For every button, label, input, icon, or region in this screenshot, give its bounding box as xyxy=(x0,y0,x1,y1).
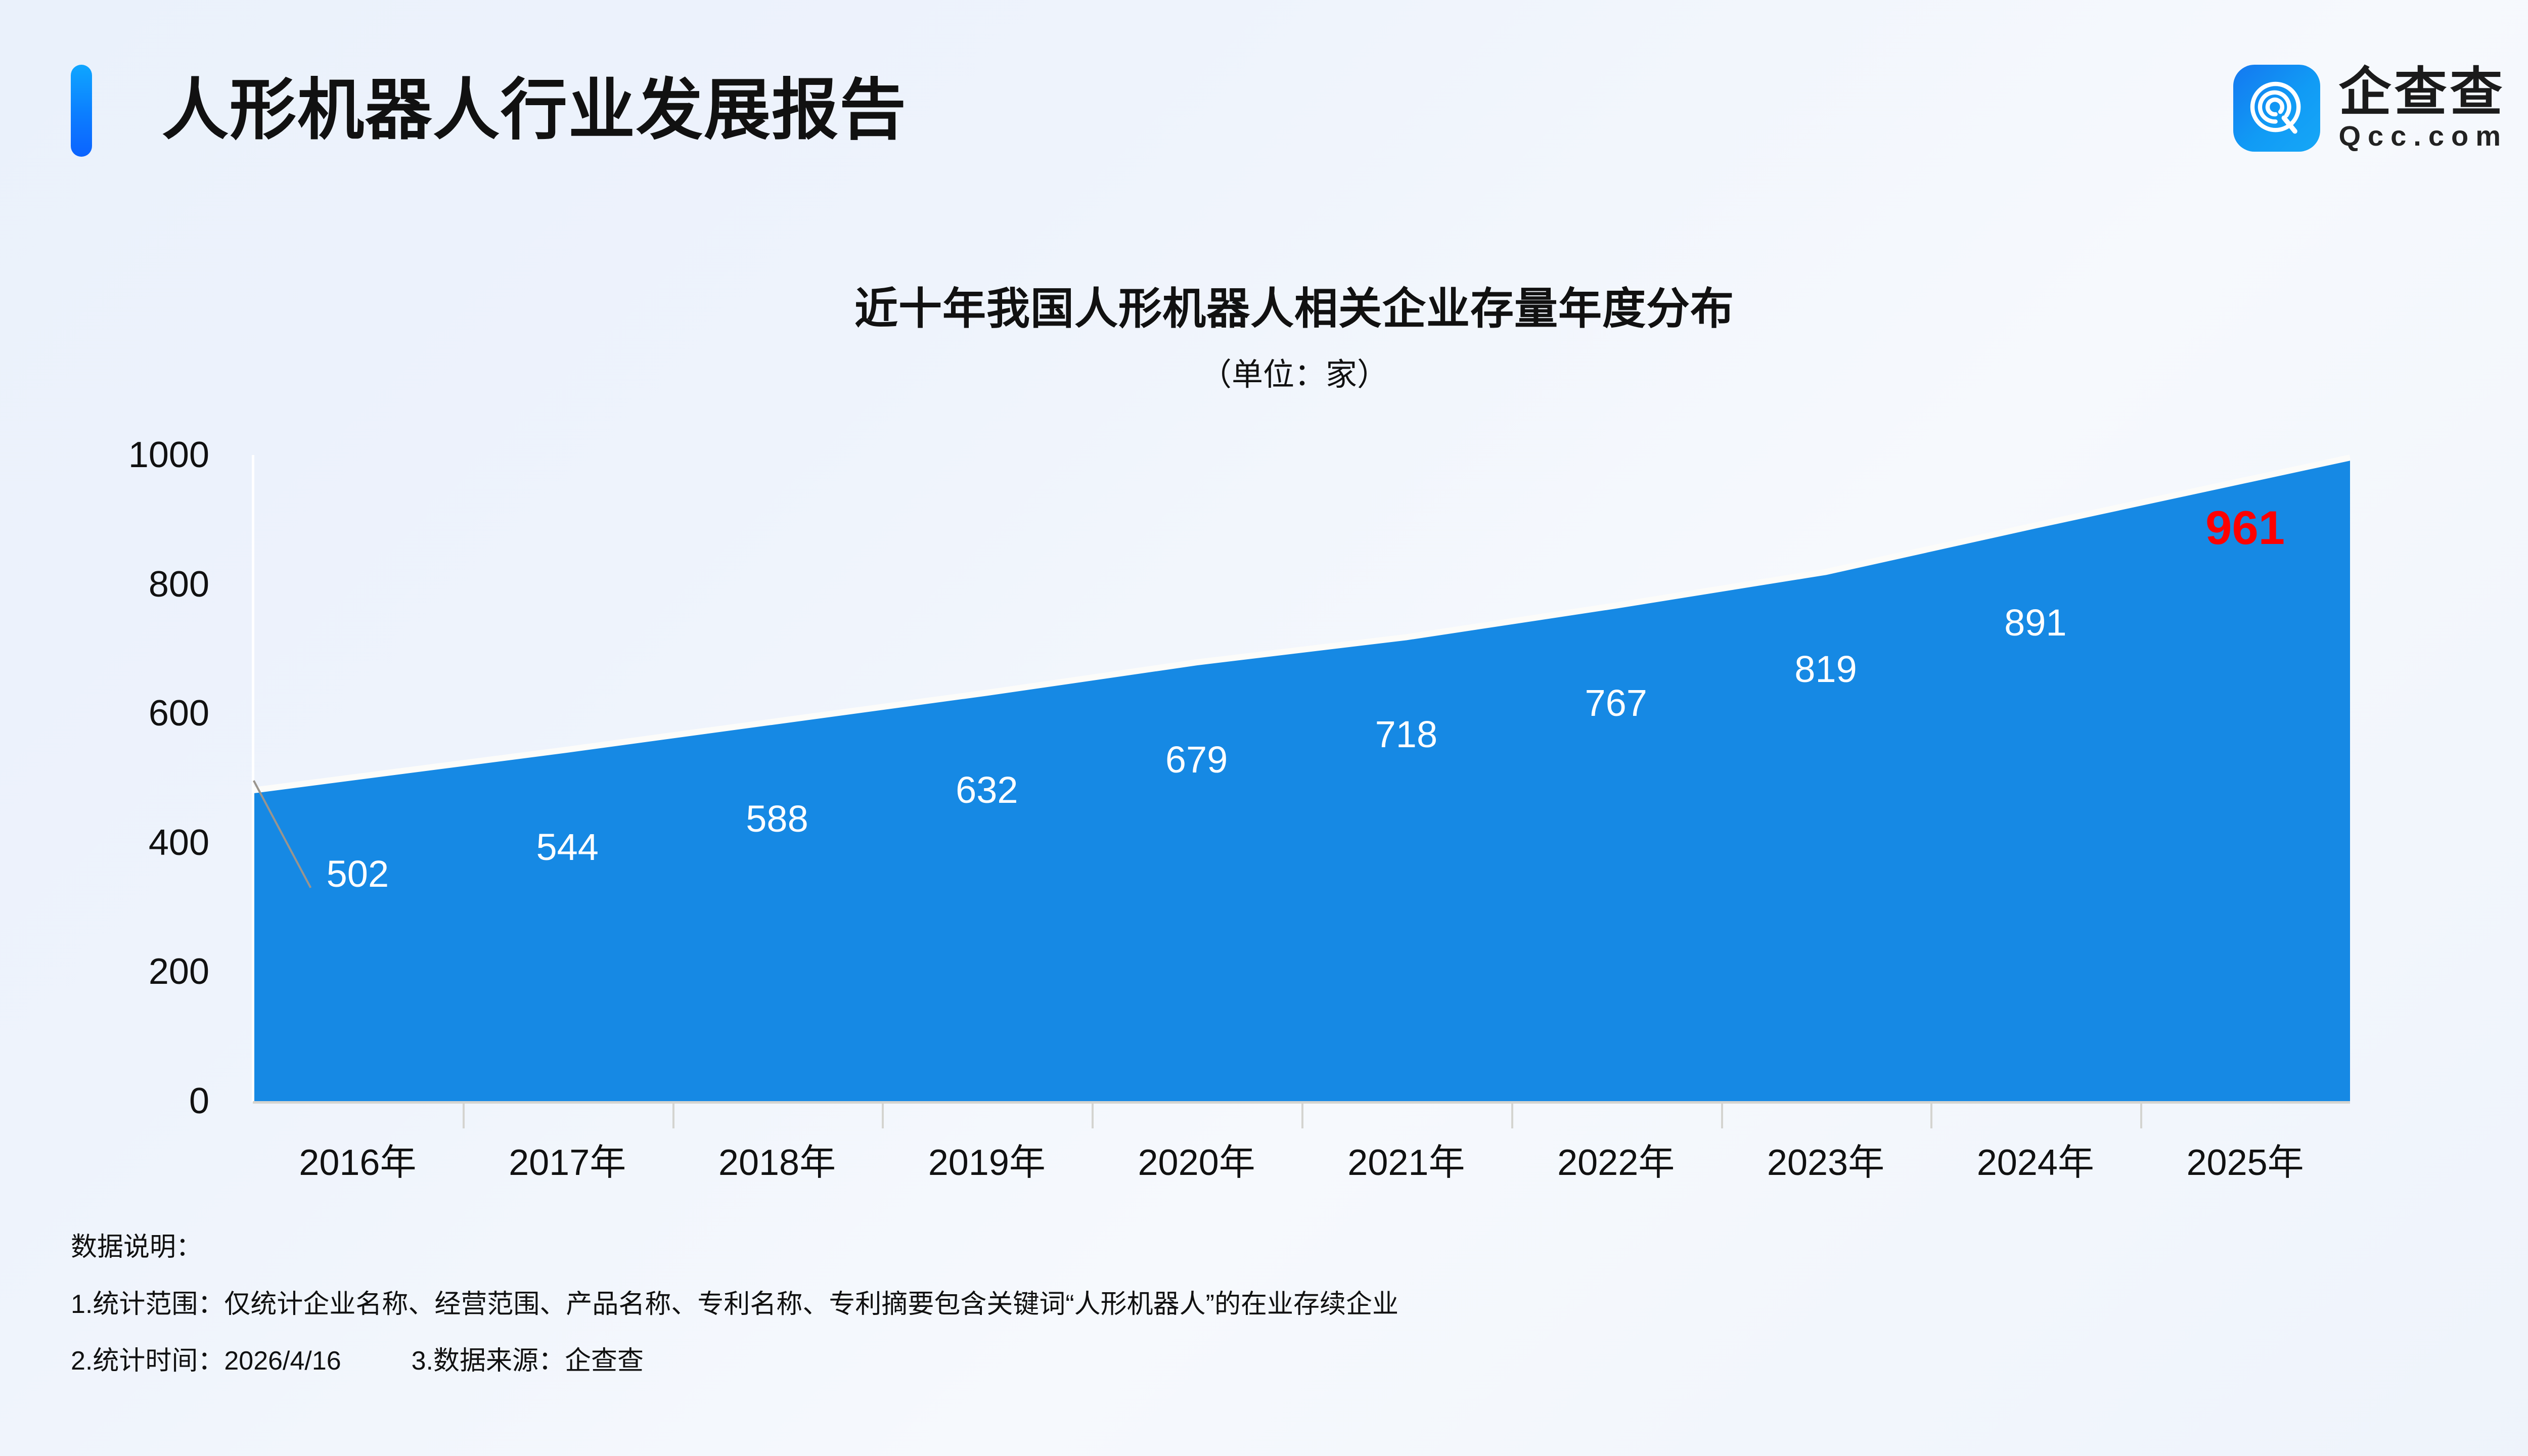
data-label-2023年: 819 xyxy=(1794,648,1857,691)
data-label-2019年: 632 xyxy=(956,768,1018,811)
x-tickmark-6 xyxy=(1511,1102,1513,1128)
data-label-2024年: 891 xyxy=(2004,601,2066,644)
x-axis-tick-2023年: 2023年 xyxy=(1709,1132,1942,1186)
x-axis-tick-2018年: 2018年 xyxy=(661,1132,893,1186)
data-label-2021年: 718 xyxy=(1375,713,1437,756)
data-label-2018年: 588 xyxy=(746,797,808,840)
note-line-1: 1.统计范围：仅统计企业名称、经营范围、产品名称、专利名称、专利摘要包含关键词“… xyxy=(71,1291,2397,1318)
x-tickmark-8 xyxy=(1930,1102,1932,1128)
y-axis-tick-800: 800 xyxy=(0,564,209,605)
data-label-2020年: 679 xyxy=(1165,738,1228,781)
note-data-source: 3.数据来源：企查查 xyxy=(412,1346,644,1376)
data-notes: 数据说明： 1.统计范围：仅统计企业名称、经营范围、产品名称、专利名称、专利摘要… xyxy=(71,1234,2397,1404)
y-axis-tick-0: 0 xyxy=(0,1080,209,1122)
x-axis-tick-2019年: 2019年 xyxy=(871,1132,1103,1186)
x-axis-tick-2016年: 2016年 xyxy=(241,1132,474,1186)
y-axis-tick-600: 600 xyxy=(0,693,209,734)
x-axis-tick-2021年: 2021年 xyxy=(1290,1132,1522,1186)
data-label-2022年: 767 xyxy=(1585,681,1647,724)
x-tickmark-4 xyxy=(1092,1102,1094,1128)
x-axis-tick-2020年: 2020年 xyxy=(1080,1132,1313,1186)
y-axis-tick-1000: 1000 xyxy=(0,434,209,476)
x-axis-tick-2017年: 2017年 xyxy=(451,1132,684,1186)
y-axis-line xyxy=(252,455,254,1102)
y-axis-tick-200: 200 xyxy=(0,951,209,992)
y-axis-tick-400: 400 xyxy=(0,822,209,863)
note-stat-time: 2.统计时间：2026/4/16 xyxy=(71,1346,341,1376)
x-axis-tick-2024年: 2024年 xyxy=(1919,1132,2152,1186)
data-label-2016年: 502 xyxy=(327,852,389,895)
x-tickmark-5 xyxy=(1301,1102,1303,1128)
data-label-2025年: 961 xyxy=(2205,500,2285,555)
note-line-2: 2.统计时间：2026/4/16 3.数据来源：企查查 xyxy=(71,1347,2397,1375)
x-tickmark-7 xyxy=(1721,1102,1723,1128)
notes-heading: 数据说明： xyxy=(71,1234,2397,1261)
data-label-2017年: 544 xyxy=(536,826,598,869)
x-tickmark-9 xyxy=(2140,1102,2142,1128)
x-tickmark-2 xyxy=(672,1102,674,1128)
x-tickmark-1 xyxy=(463,1102,465,1128)
x-axis-tick-2025年: 2025年 xyxy=(2129,1132,2362,1186)
area-fill xyxy=(253,458,2350,1101)
x-axis-tick-2022年: 2022年 xyxy=(1500,1132,1732,1186)
x-tickmark-3 xyxy=(882,1102,884,1128)
